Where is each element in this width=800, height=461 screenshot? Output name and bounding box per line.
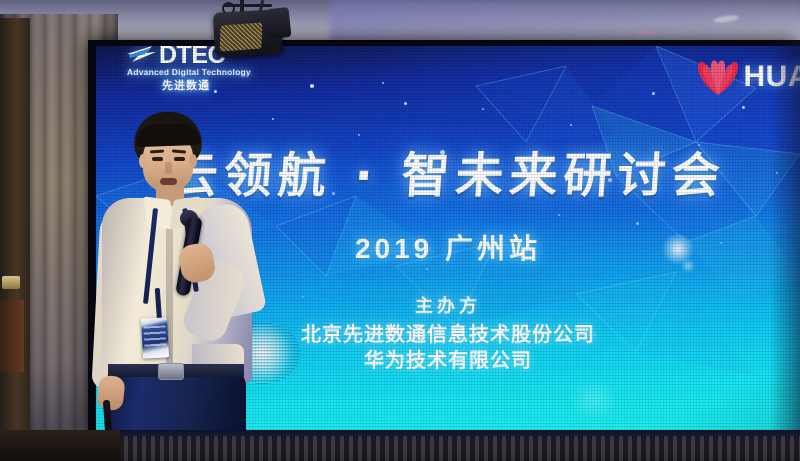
door-handle-icon [2,276,20,289]
shirt-placket [166,212,173,384]
presenter-eye-left [152,157,163,161]
ceiling-stage-light [196,0,308,66]
stage-slat-trim [88,436,800,461]
presenter-eye-right [174,157,185,161]
ceiling-downlight-icon [636,31,653,35]
light-mount-bar [224,4,272,7]
side-door-panel [0,18,30,461]
light-side-body [266,7,291,39]
conference-photo-scene: DTEC Advanced Digital Technology 先进数通 [0,0,800,461]
belt-buckle-icon [158,363,184,380]
presenter-mouth [160,178,177,185]
presenter-nose [165,162,172,174]
light-lens-grille [220,22,263,51]
presenter-hair-fringe [136,123,201,147]
presenter-ear-right [189,154,197,168]
badge-text-lines [143,325,166,350]
right-wall-shadow [770,40,800,461]
presenter-with-microphone [96,112,266,461]
floor-left [0,430,120,461]
door-kick-plate [0,300,24,372]
light-foot-bracket [272,46,280,53]
presenter-ear-left [139,154,147,168]
